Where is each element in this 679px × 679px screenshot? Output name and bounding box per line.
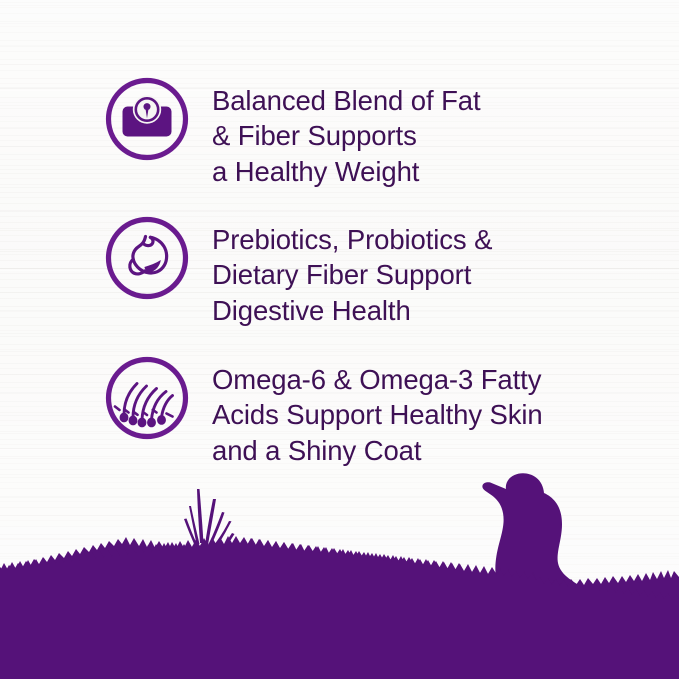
benefit-line: Balanced Blend of Fat [212,83,481,118]
hair-follicle-icon [104,355,190,441]
weight-scale-icon [104,76,190,162]
scene-dog-on-grassy-hill [0,459,679,679]
benefit-line: Acids Support Healthy Skin [212,397,543,432]
stomach-icon [104,215,190,301]
benefit-line: Omega-6 & Omega-3 Fatty [212,362,543,397]
benefit-item-skin-coat: Omega-6 & Omega-3 Fatty Acids Support He… [104,355,543,468]
benefit-text-weight: Balanced Blend of Fat & Fiber Supports a… [212,76,481,189]
benefit-line: Prebiotics, Probiotics & [212,222,492,257]
grass-hill-silhouette [0,536,679,679]
benefit-line: & Fiber Supports [212,118,481,153]
benefit-text-digestion: Prebiotics, Probiotics & Dietary Fiber S… [212,215,492,328]
benefit-line: Dietary Fiber Support [212,257,492,292]
benefit-item-digestion: Prebiotics, Probiotics & Dietary Fiber S… [104,215,492,328]
benefit-text-skin-coat: Omega-6 & Omega-3 Fatty Acids Support He… [212,355,543,468]
benefit-line: a Healthy Weight [212,154,481,189]
benefit-item-weight: Balanced Blend of Fat & Fiber Supports a… [104,76,481,189]
benefits-panel: Balanced Blend of Fat & Fiber Supports a… [0,0,679,679]
benefit-line: Digestive Health [212,293,492,328]
